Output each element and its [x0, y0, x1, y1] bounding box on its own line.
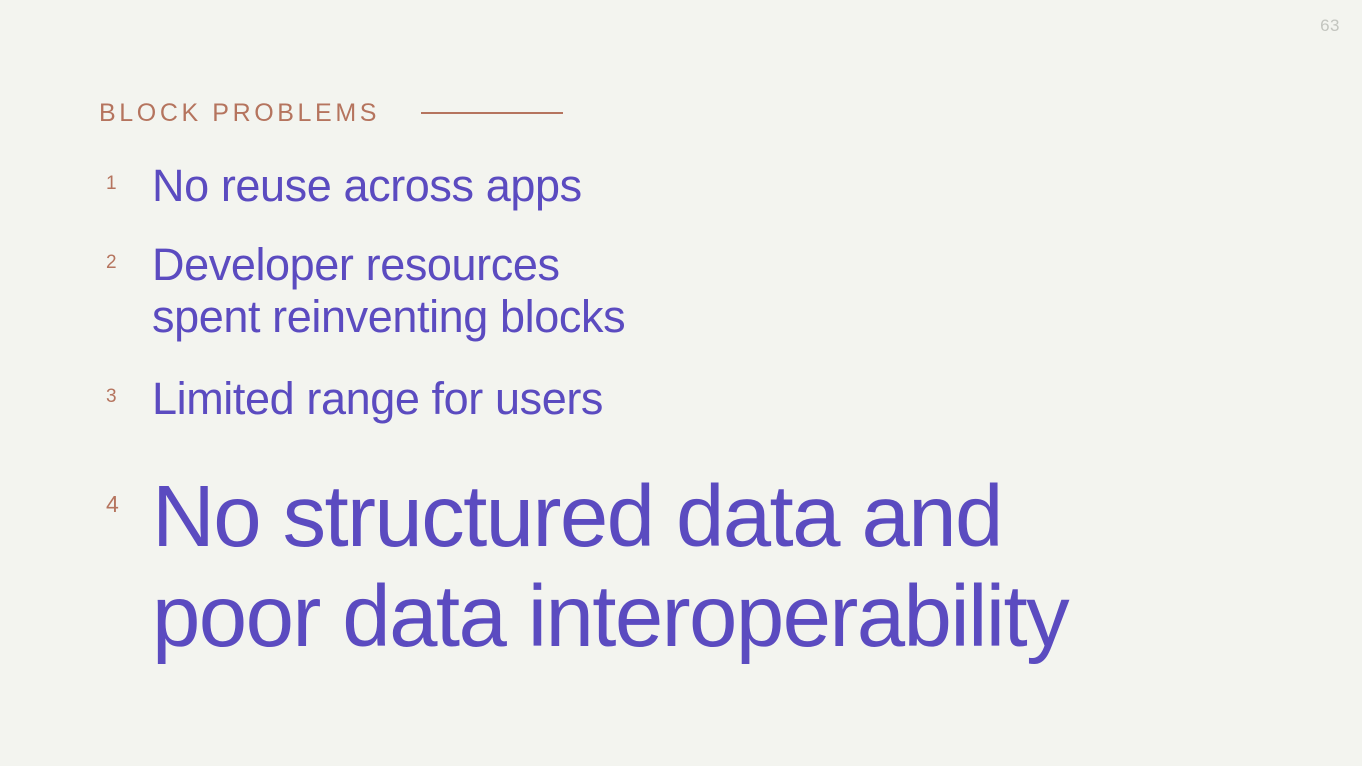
list-item-text: Developer resources spent reinventing bl…	[99, 239, 1299, 343]
list-item-number: 1	[106, 174, 117, 193]
list-item-number: 3	[106, 387, 117, 406]
list-item-emphasis: 4 No structured data and poor data inter…	[99, 467, 1299, 667]
list-item-number: 2	[106, 253, 117, 272]
section-header-rule	[421, 112, 563, 114]
page-number: 63	[1320, 17, 1340, 34]
list-item: 3 Limited range for users	[99, 373, 1299, 425]
list-item-text: No reuse across apps	[99, 160, 1299, 212]
slide: 63 BLOCK PROBLEMS 1 No reuse across apps…	[0, 0, 1362, 766]
list-item: 2 Developer resources spent reinventing …	[99, 239, 1299, 343]
section-header-label: BLOCK PROBLEMS	[99, 101, 380, 126]
list-item: 1 No reuse across apps	[99, 160, 1299, 212]
section-header: BLOCK PROBLEMS	[99, 97, 563, 129]
list-item-text: Limited range for users	[99, 373, 1299, 425]
list-item-text: No structured data and poor data interop…	[99, 467, 1299, 667]
list-item-number: 4	[106, 493, 119, 516]
problem-list: 1 No reuse across apps 2 Developer resou…	[99, 160, 1299, 667]
